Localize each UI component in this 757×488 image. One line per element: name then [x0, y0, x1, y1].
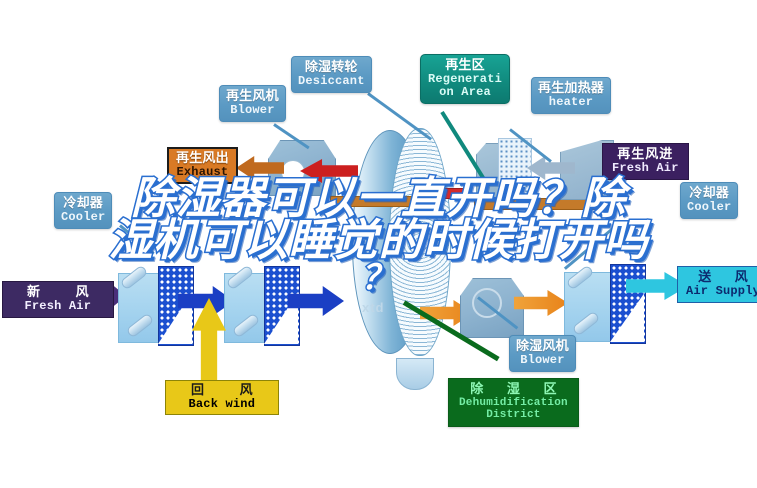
headline-line-3: ？: [0, 262, 757, 295]
label-regeneration-heater[interactable]: 再生加热器 heater: [531, 77, 611, 114]
label-desiccant-rotor-cn: 除湿转轮: [298, 60, 365, 75]
label-regeneration-heater-en: heater: [538, 96, 604, 109]
back-wind-arrow: [192, 298, 226, 384]
label-back-wind-en: Back wind: [175, 398, 269, 411]
label-regeneration-area-en1: Regenerati: [428, 73, 502, 86]
rotor-base: [396, 358, 434, 390]
label-back-wind[interactable]: 回 风 Back wind: [165, 380, 279, 415]
label-regeneration-blower-cn: 再生风机: [226, 89, 279, 104]
label-fresh-air-inlet-en: Fresh Air: [11, 300, 105, 313]
label-regeneration-area-cn: 再生区: [428, 58, 502, 73]
label-dehumidification-blower[interactable]: 除湿风机 Blower: [509, 335, 576, 372]
label-dehumidification-district-cn: 除 湿 区: [459, 382, 568, 397]
label-dehumidification-district-en1: Dehumidification: [459, 397, 568, 409]
diagram-canvas: xtd 除湿转轮 Desiccant 再生风机 Blower 再生区: [0, 0, 757, 488]
label-regeneration-exhaust-cn: 再生风出: [176, 151, 229, 166]
label-regeneration-area-en2: on Area: [428, 86, 502, 99]
label-regeneration-blower-en: Blower: [226, 104, 279, 117]
label-desiccant-rotor-en: Desiccant: [298, 75, 365, 88]
label-dehumidification-blower-en: Blower: [516, 354, 569, 367]
label-regeneration-blower[interactable]: 再生风机 Blower: [219, 85, 286, 122]
label-regeneration-fresh-air-cn: 再生风进: [612, 147, 679, 162]
label-desiccant-rotor[interactable]: 除湿转轮 Desiccant: [291, 56, 372, 93]
label-dehumidification-district[interactable]: 除 湿 区 Dehumidification District: [448, 378, 579, 427]
label-back-wind-cn: 回 风: [175, 383, 269, 398]
label-dehumidification-district-en2: District: [459, 409, 568, 421]
headline-overlay: 除湿器可以一直开吗？除 湿机可以睡觉的时候打开吗 ？: [0, 178, 757, 295]
label-regeneration-area[interactable]: 再生区 Regenerati on Area: [420, 54, 510, 104]
label-dehumidification-blower-cn: 除湿风机: [516, 339, 569, 354]
headline-line-2: 湿机可以睡觉的时候打开吗: [0, 220, 757, 262]
label-regeneration-heater-cn: 再生加热器: [538, 81, 604, 96]
